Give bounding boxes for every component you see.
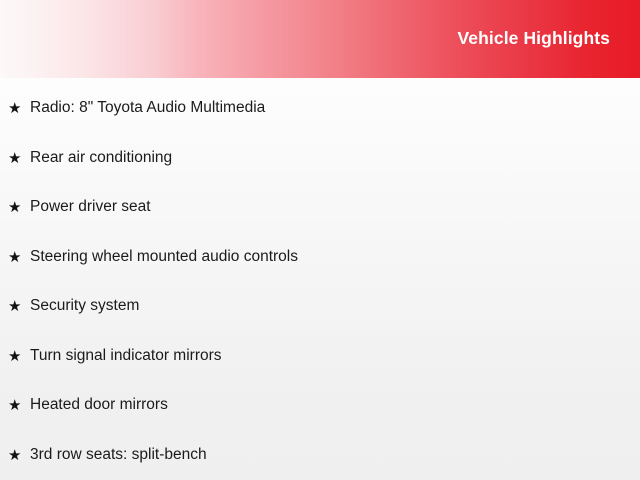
list-item: ★ Radio: 8" Toyota Audio Multimedia <box>0 78 640 150</box>
list-item: ★ Steering wheel mounted audio controls <box>0 249 640 299</box>
list-item-label: Steering wheel mounted audio controls <box>30 249 640 265</box>
list-item: ★ Power driver seat <box>0 199 640 249</box>
star-icon: ★ <box>8 200 30 215</box>
list-item: ★ 3rd row seats: split-bench <box>0 447 640 480</box>
star-icon: ★ <box>8 349 30 364</box>
list-item: ★ Security system <box>0 298 640 348</box>
star-icon: ★ <box>8 299 30 314</box>
vehicle-highlights-list: ★ Radio: 8" Toyota Audio Multimedia ★ Re… <box>0 78 640 480</box>
page-title: Vehicle Highlights <box>457 30 610 48</box>
list-item: ★ Heated door mirrors <box>0 397 640 447</box>
header-band: Vehicle Highlights <box>0 0 640 78</box>
list-item-label: Turn signal indicator mirrors <box>30 348 640 364</box>
list-item-label: Heated door mirrors <box>30 397 640 413</box>
list-item: ★ Turn signal indicator mirrors <box>0 348 640 398</box>
list-item-label: Power driver seat <box>30 199 640 215</box>
list-item: ★ Rear air conditioning <box>0 150 640 200</box>
list-item-label: Rear air conditioning <box>30 150 640 166</box>
star-icon: ★ <box>8 448 30 463</box>
list-item-label: 3rd row seats: split-bench <box>30 447 640 463</box>
list-item-label: Radio: 8" Toyota Audio Multimedia <box>30 100 640 116</box>
vehicle-highlights-slide: Vehicle Highlights ★ Radio: 8" Toyota Au… <box>0 0 640 480</box>
star-icon: ★ <box>8 398 30 413</box>
star-icon: ★ <box>8 250 30 265</box>
list-item-label: Security system <box>30 298 640 314</box>
star-icon: ★ <box>8 101 30 116</box>
star-icon: ★ <box>8 151 30 166</box>
